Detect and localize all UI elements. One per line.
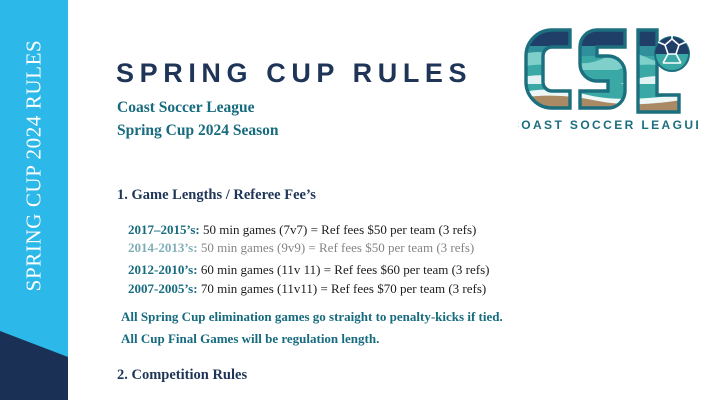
rule-details: 60 min games (11v 11) = Ref fees $60 per… xyxy=(198,262,490,277)
page-title: SPRING CUP RULES xyxy=(116,58,472,89)
rule-row: 2012-2010’s: 60 min games (11v 11) = Ref… xyxy=(128,262,490,278)
section-heading-game-lengths: 1. Game Lengths / Referee Fee’s xyxy=(117,187,316,204)
rule-details: 70 min games (11v11) = Ref fees $70 per … xyxy=(198,281,487,296)
csl-logo-tagline: COAST SOCCER LEAGUE xyxy=(518,118,698,132)
rule-years: 2007-2005’s: xyxy=(128,281,198,296)
rule-years: 2012-2010’s: xyxy=(128,262,198,277)
note-penalty-kicks: All Spring Cup elimination games go stra… xyxy=(121,309,503,325)
rule-details: 50 min games (9v9) = Ref fees $50 per te… xyxy=(198,240,475,255)
csl-logo: COAST SOCCER LEAGUE xyxy=(518,26,698,138)
subtitle-league: Coast Soccer League xyxy=(117,99,254,117)
slide-canvas: SPRING CUP 2024 RULES SPRING CUP RULES C… xyxy=(0,0,720,400)
rule-years: 2014-2013’s: xyxy=(128,240,198,255)
subtitle-season: Spring Cup 2024 Season xyxy=(117,122,279,140)
note-final-games: All Cup Final Games will be regulation l… xyxy=(121,331,379,347)
rule-row: 2014-2013’s: 50 min games (9v9) = Ref fe… xyxy=(128,240,474,256)
rule-row: 2007-2005’s: 70 min games (11v11) = Ref … xyxy=(128,281,486,297)
rule-details: 50 min games (7v7) = Ref fees $50 per te… xyxy=(200,222,477,237)
csl-logo-graphic: COAST SOCCER LEAGUE xyxy=(518,26,698,138)
rule-years: 2017–2015’s: xyxy=(128,222,200,237)
rule-row: 2017–2015’s: 50 min games (7v7) = Ref fe… xyxy=(128,222,476,238)
section-heading-competition-rules: 2. Competition Rules xyxy=(117,367,247,384)
